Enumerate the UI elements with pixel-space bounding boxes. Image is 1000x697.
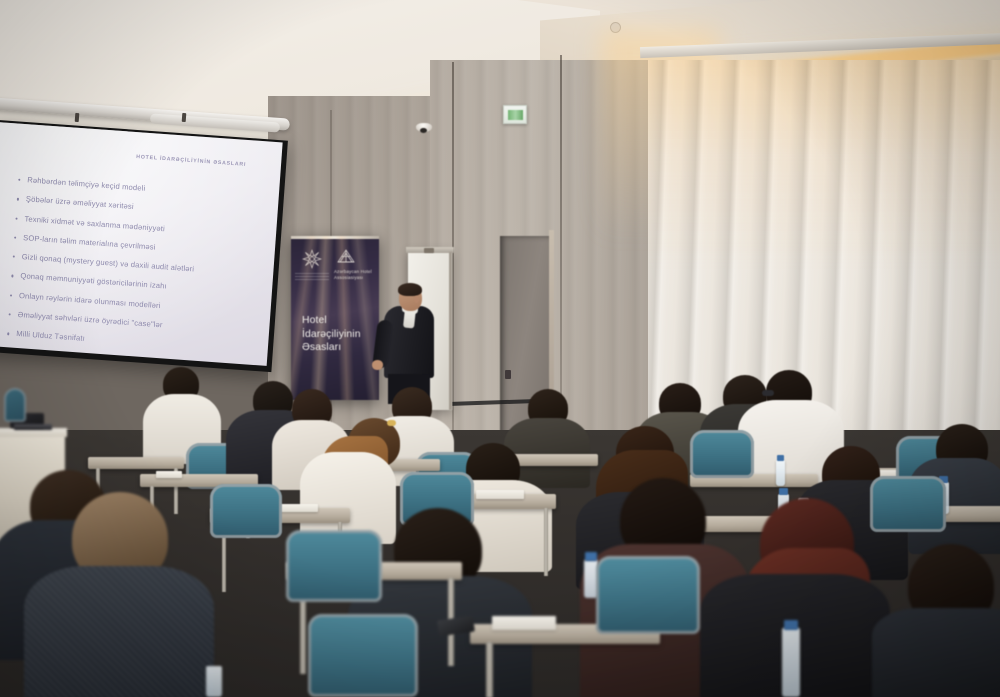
camera-lens xyxy=(420,128,427,133)
fabric-texture xyxy=(24,566,214,697)
exit-sign-icon xyxy=(503,105,527,124)
notepad xyxy=(492,616,556,630)
presenter-hair xyxy=(398,283,422,296)
projection-screen: HOTEL İDARƏÇİLİYİNİN ƏSASLARI Rəhbərdən … xyxy=(0,122,283,366)
torso xyxy=(872,608,1000,697)
roller-bracket xyxy=(75,113,80,122)
chair[interactable] xyxy=(870,476,946,532)
conference-room-photo: HOTEL İDARƏÇİLİYİNİN ƏSASLARI Rəhbərdən … xyxy=(0,0,1000,697)
exit-sign-glyph xyxy=(508,110,523,120)
logo-left-caption xyxy=(295,272,329,280)
hotel-association-logo-icon xyxy=(335,247,357,267)
banner-title-line: İdarəçiliyinin xyxy=(302,328,378,342)
bottle-cap xyxy=(784,620,798,630)
flipchart-edge xyxy=(449,252,452,410)
notepad xyxy=(476,490,524,499)
chair[interactable] xyxy=(690,430,754,478)
water-bottle[interactable] xyxy=(776,460,785,486)
eyeglasses-icon xyxy=(762,390,774,396)
banner-organization: Azərbaycan Hotel Assosiasiyası xyxy=(334,269,379,280)
curtain-uplight xyxy=(648,60,1000,270)
flipchart-clip xyxy=(424,248,434,253)
notepad xyxy=(276,504,318,512)
laptop-base[interactable] xyxy=(14,424,52,430)
ornament-logo-icon xyxy=(301,248,323,270)
water-bottle[interactable] xyxy=(782,628,800,697)
chair[interactable] xyxy=(596,556,700,634)
banner-title: Hotel İdarəçiliyinin Əsasları xyxy=(302,314,378,355)
notepad xyxy=(156,471,182,478)
desk xyxy=(88,457,184,469)
roller-bracket xyxy=(182,113,187,122)
roll-up-banner: Azərbaycan Hotel Assosiasiyası Hotel İda… xyxy=(291,236,379,400)
hair-clip xyxy=(387,420,396,426)
banner-title-line: Əsasları xyxy=(302,341,378,355)
presenter-hand xyxy=(372,360,383,370)
door-handle[interactable] xyxy=(505,370,511,379)
bottle-cap xyxy=(779,488,788,495)
presenter-ear xyxy=(414,296,419,303)
chair[interactable] xyxy=(308,614,418,697)
banner-title-line: Hotel xyxy=(302,314,378,328)
water-bottle[interactable] xyxy=(206,666,222,697)
chair-back[interactable] xyxy=(4,388,26,422)
bottle-cap xyxy=(777,455,784,461)
chair[interactable] xyxy=(210,484,282,538)
chair[interactable] xyxy=(286,530,382,602)
slide-bullet-list: Rəhbərdən təlimçiyə keçid modeli Şöbələr… xyxy=(4,176,271,366)
